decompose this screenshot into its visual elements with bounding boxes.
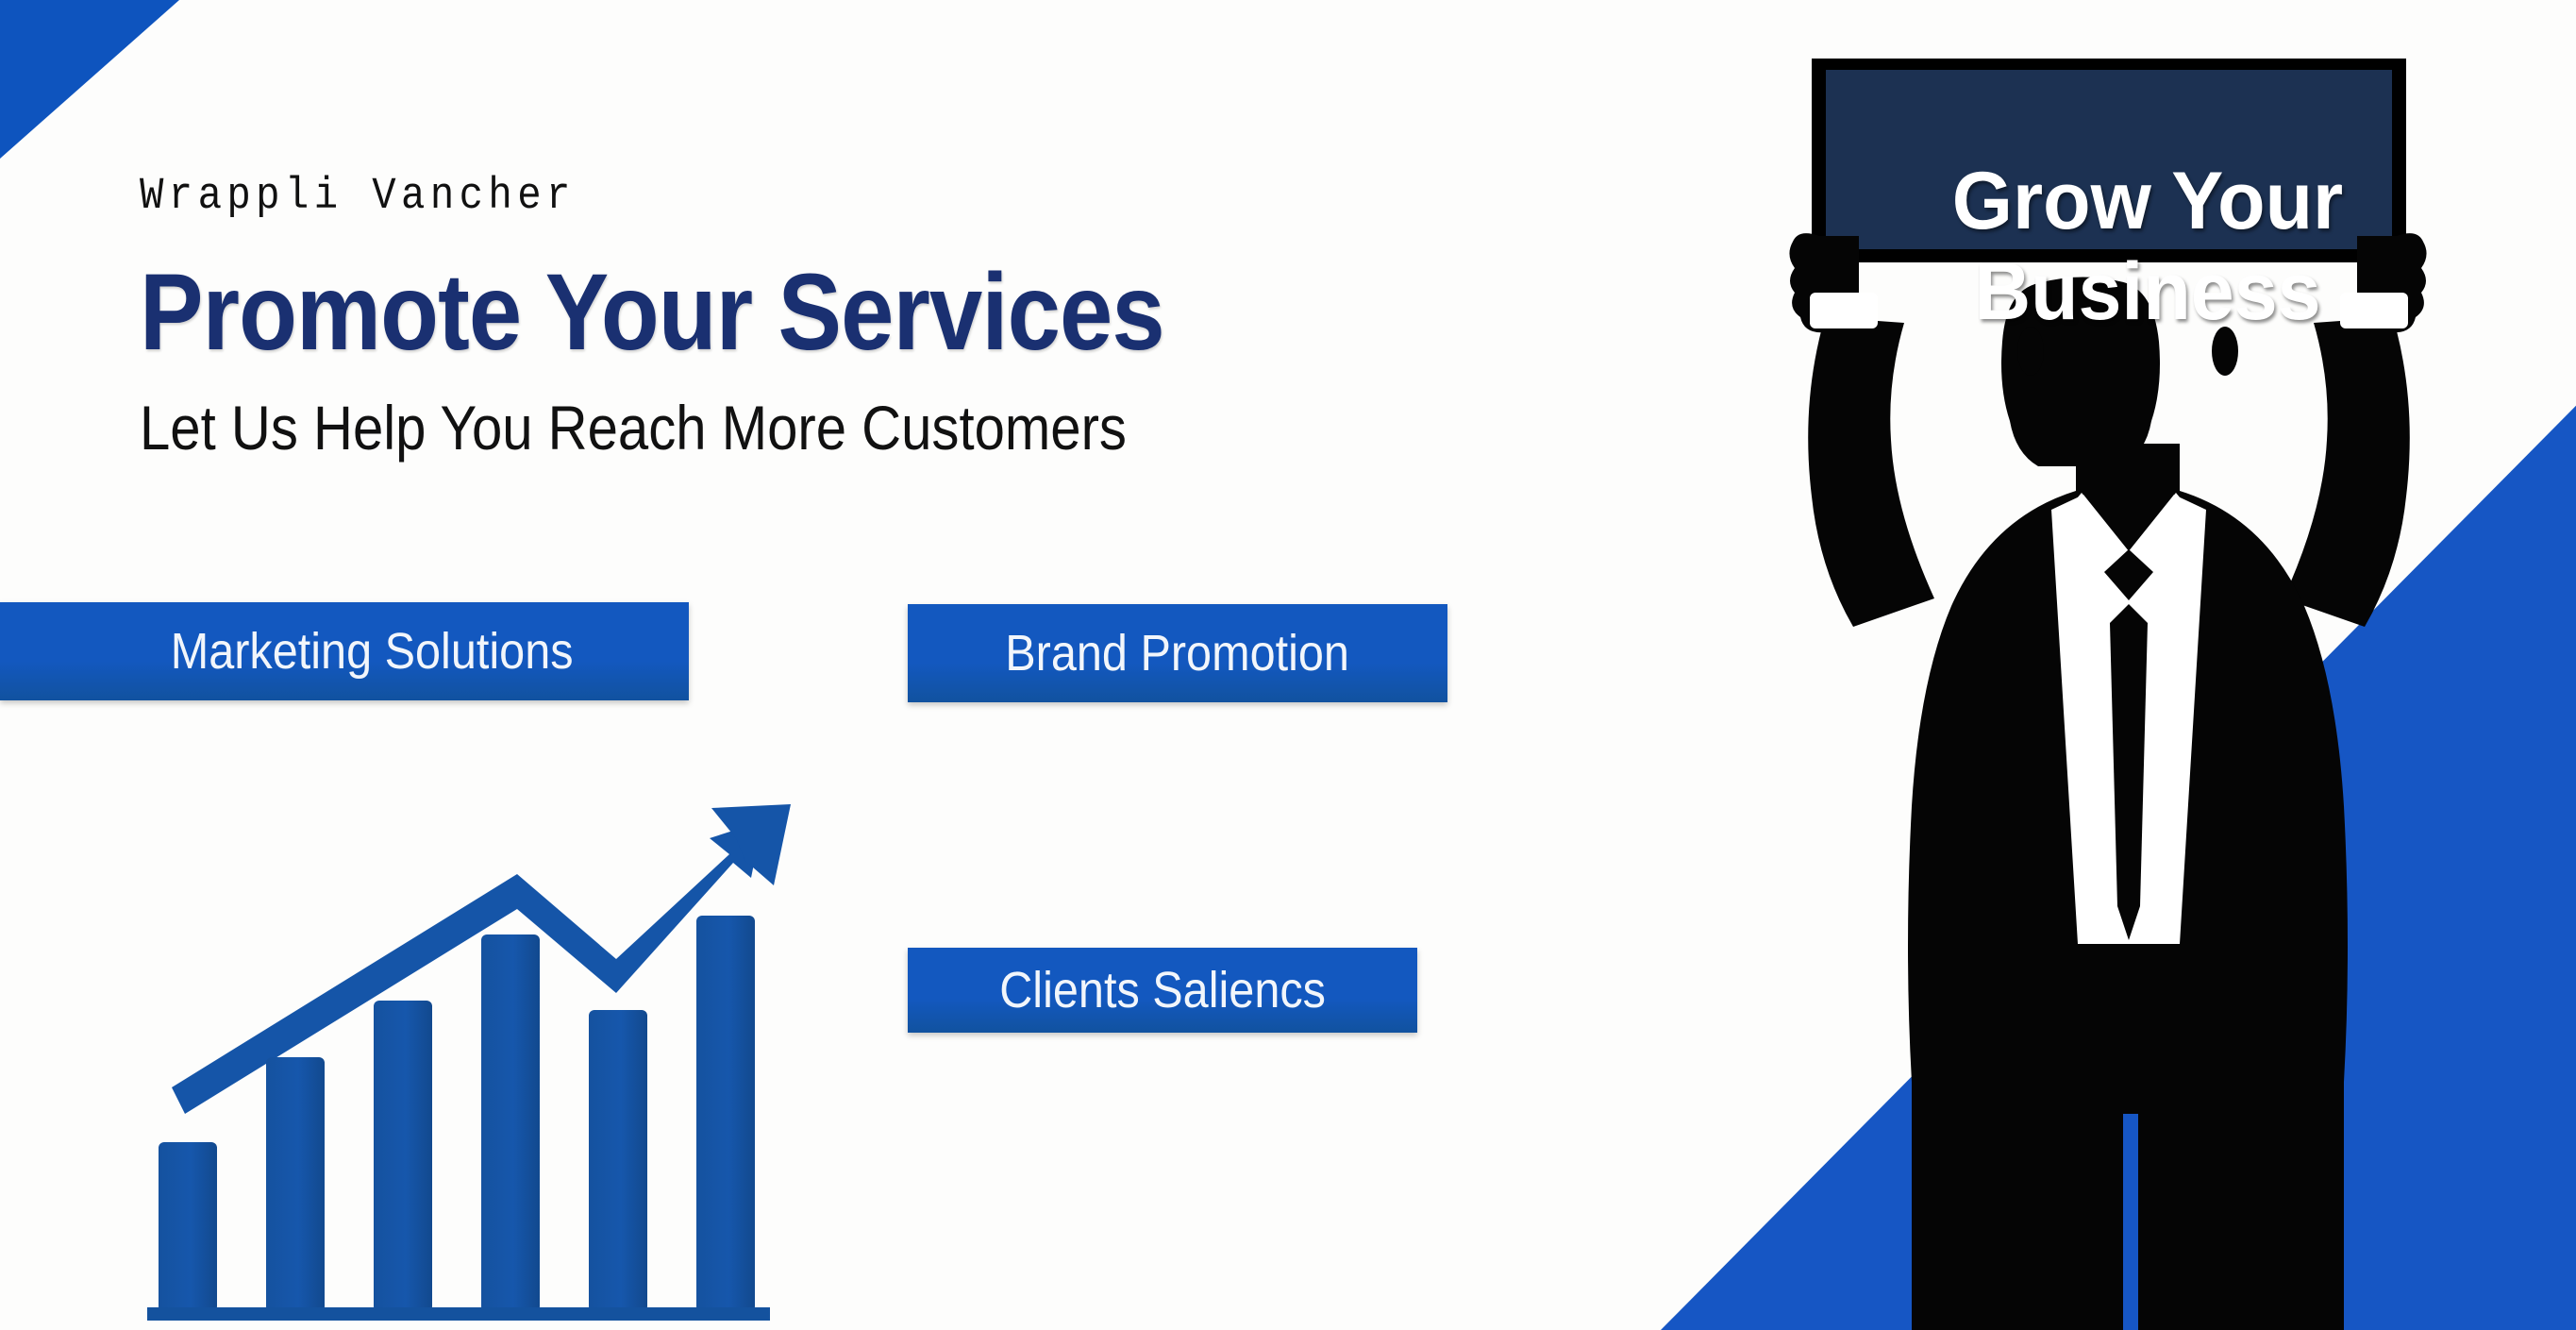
sign-board — [1826, 70, 2392, 249]
tag-brand-promotion[interactable]: Brand Promotion — [908, 604, 1447, 702]
headline-block: Wrappli Vancher Promote Your Services Le… — [140, 175, 1744, 461]
businessman-illustration — [1680, 0, 2576, 1330]
bar-group — [159, 916, 755, 1312]
tag-clients-saliencs[interactable]: Clients Saliencs — [908, 948, 1417, 1033]
tag-marketing-solutions-label: Marketing Solutions — [171, 622, 574, 681]
bar-1 — [159, 1142, 217, 1312]
promo-banner: Wrappli Vancher Promote Your Services Le… — [0, 0, 2576, 1330]
bar-4 — [481, 934, 540, 1312]
businessman-illustration-svg — [1680, 0, 2576, 1330]
bar-5 — [589, 1010, 647, 1312]
right-arm — [2283, 317, 2410, 627]
left-ear — [2017, 327, 2044, 376]
right-cuff — [2340, 293, 2408, 328]
leg-gap — [2123, 1114, 2138, 1330]
page-subtitle: Let Us Help You Reach More Customers — [140, 396, 1551, 461]
growth-bar-chart — [140, 783, 800, 1330]
left-cuff — [1810, 293, 1878, 328]
bar-2 — [266, 1057, 325, 1312]
left-arm — [1808, 317, 1934, 627]
chart-baseline — [147, 1307, 770, 1321]
brand-eyebrow: Wrappli Vancher — [140, 175, 1583, 219]
right-ear — [2212, 327, 2238, 376]
growth-bar-chart-svg — [140, 783, 800, 1330]
corner-triangle-top-left-icon — [0, 0, 179, 159]
tag-marketing-solutions[interactable]: Marketing Solutions — [0, 602, 689, 700]
page-title: Promote Your Services — [140, 259, 1551, 367]
tag-brand-promotion-label: Brand Promotion — [1006, 624, 1350, 682]
bar-3 — [374, 1001, 432, 1312]
bar-6 — [696, 916, 755, 1312]
tag-clients-saliencs-label: Clients Saliencs — [999, 961, 1326, 1019]
